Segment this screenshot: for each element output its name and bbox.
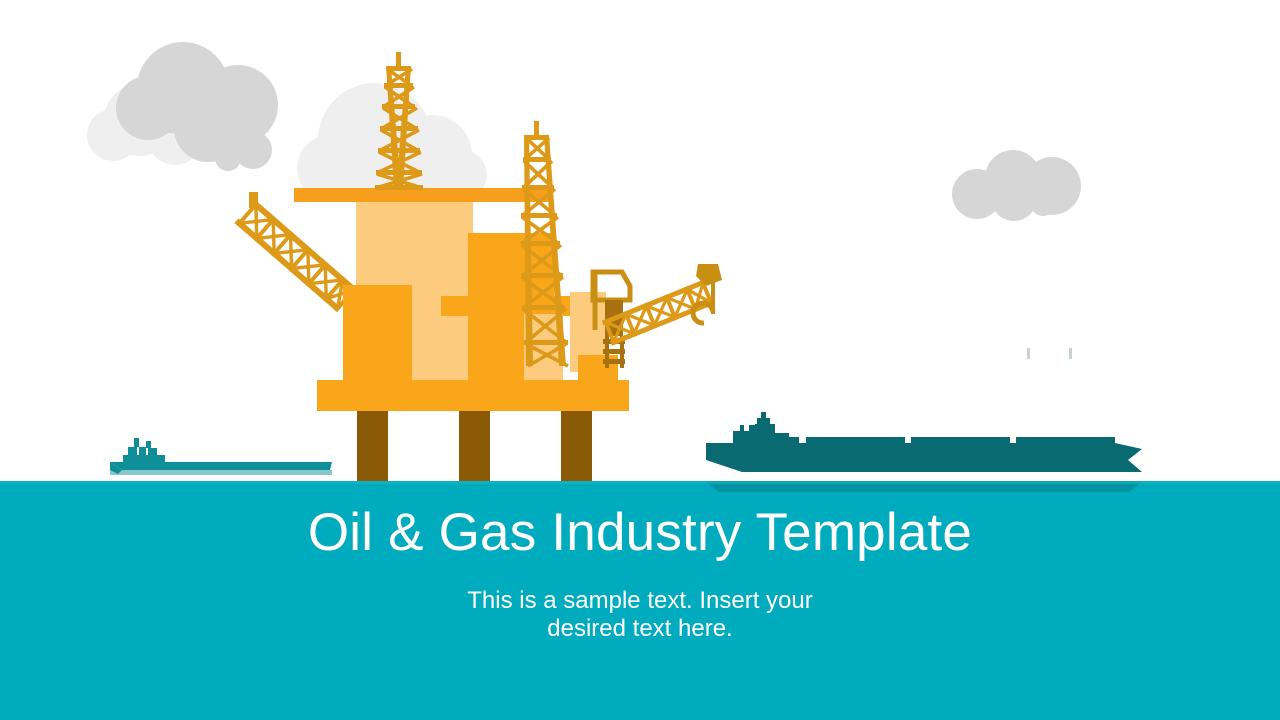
- sea: [0, 481, 1280, 720]
- rig-module-left-orange: [343, 285, 412, 395]
- rig-shoulder-left: [441, 296, 468, 316]
- rig-deck-bar: [294, 188, 552, 202]
- rig-base-platform: [317, 380, 629, 411]
- oil-gas-illustration: [0, 0, 1280, 720]
- water-surface-highlight: [0, 481, 1280, 484]
- slide-canvas: Oil & Gas Industry Template This is a sa…: [0, 0, 1280, 720]
